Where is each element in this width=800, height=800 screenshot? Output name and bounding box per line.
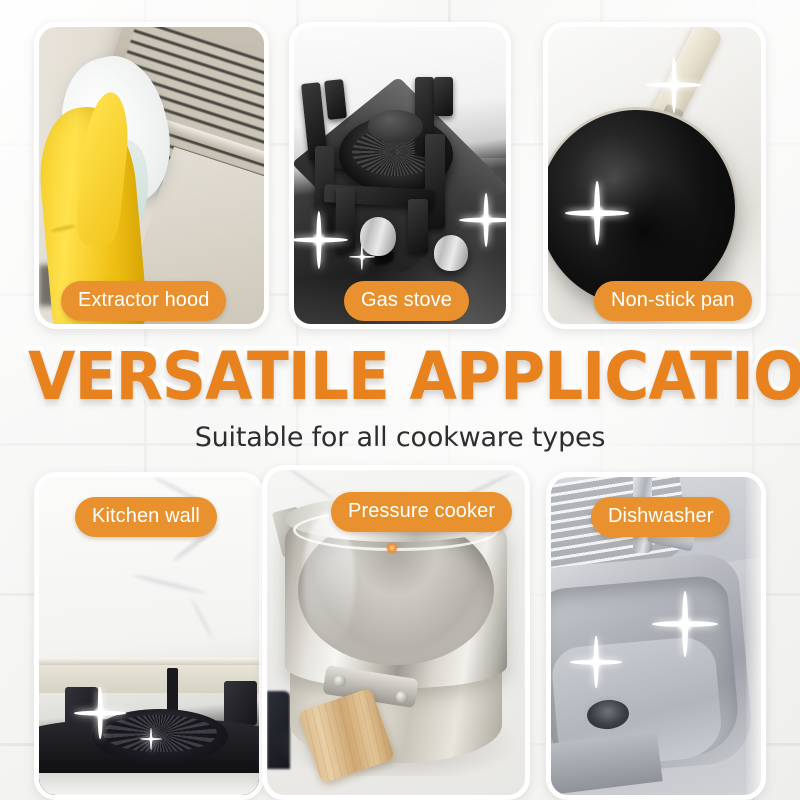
background-tile-strip <box>746 477 761 795</box>
stove-knob <box>360 217 396 256</box>
photo-pressure-cooker: Pressure cooker <box>267 470 525 795</box>
feature-card-dishwasher[interactable]: Dishwasher <box>546 472 766 800</box>
feature-card-gas-stove[interactable]: Gas stove <box>289 22 511 329</box>
photo-extractor-hood: Extractor hood <box>39 27 264 324</box>
photo-non-stick-pan: Non-stick pan <box>548 27 761 324</box>
marble-vein <box>132 573 206 595</box>
grate-bracket <box>224 681 257 726</box>
card-label-kitchen-wall[interactable]: Kitchen wall <box>75 497 217 537</box>
warm-glint <box>386 542 398 554</box>
grate-arm <box>434 77 453 116</box>
grate-arm <box>336 187 355 252</box>
card-label-gas-stove[interactable]: Gas stove <box>344 281 469 321</box>
card-label-non-stick-pan[interactable]: Non-stick pan <box>594 281 752 321</box>
grate-arm <box>324 80 347 120</box>
pot-highlight <box>303 512 355 649</box>
glove-crease <box>50 224 75 233</box>
card-label-dishwasher[interactable]: Dishwasher <box>591 497 730 537</box>
card-label-pressure-cooker[interactable]: Pressure cooker <box>331 492 512 532</box>
handle-bolt <box>334 675 346 687</box>
photo-dishwasher-sink: Dishwasher <box>551 477 761 795</box>
marble-vein <box>190 598 213 638</box>
headline-block: VERSATILE APPLICATION Suitable for all c… <box>0 344 800 453</box>
feature-card-non-stick-pan[interactable]: Non-stick pan <box>543 22 766 329</box>
feature-card-pressure-cooker[interactable]: Pressure cooker <box>262 465 530 800</box>
card-label-extractor-hood[interactable]: Extractor hood <box>61 281 226 321</box>
page-subtitle: Suitable for all cookware types <box>0 422 800 453</box>
burner-ring <box>92 709 228 763</box>
stove-knob <box>434 235 468 271</box>
photo-gas-stove: Gas stove <box>294 27 506 324</box>
photo-kitchen-wall: Kitchen wall <box>39 477 259 795</box>
feature-card-kitchen-wall[interactable]: Kitchen wall <box>34 472 264 800</box>
burner-cap <box>368 110 423 143</box>
handle-bolt <box>396 691 408 703</box>
grate-arm <box>425 134 444 229</box>
feature-card-extractor-hood[interactable]: Extractor hood <box>34 22 269 329</box>
page-title: VERSATILE APPLICATION <box>28 344 772 410</box>
marble-vein <box>282 470 335 500</box>
grate-arm <box>408 199 427 252</box>
cabinet-base <box>39 773 259 795</box>
